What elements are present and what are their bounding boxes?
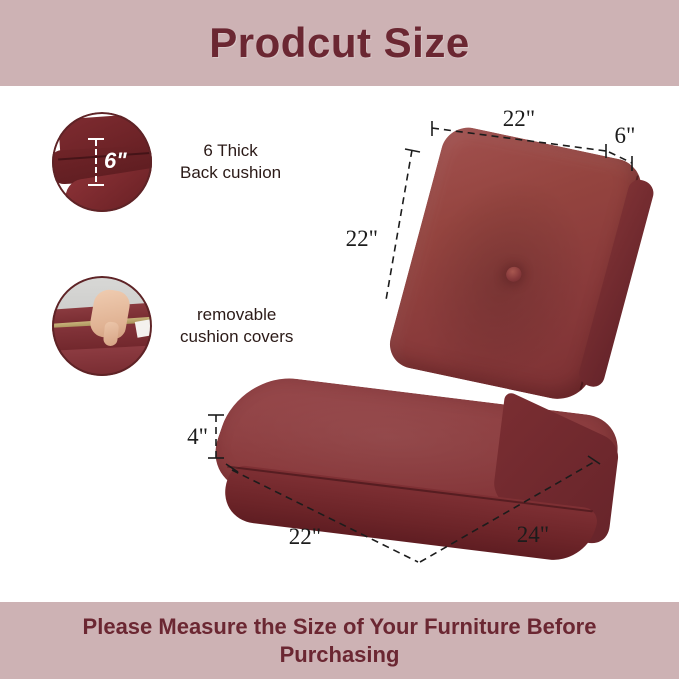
- tuft-button: [505, 265, 524, 283]
- six-inch-badge-label: 6": [104, 150, 127, 172]
- feature-2-label: removable cushion covers: [180, 304, 293, 349]
- feature-back-cushion-thickness: 6" 6 Thick Back cushion: [52, 112, 281, 212]
- footer-banner: Please Measure the Size of Your Furnitur…: [0, 602, 679, 679]
- feature-removable-covers: removable cushion covers: [52, 276, 293, 376]
- back-cushion-graphic: [384, 123, 648, 405]
- feature-1-label: 6 Thick Back cushion: [180, 140, 281, 185]
- header-banner: Prodcut Size: [0, 0, 679, 86]
- footer-message: Please Measure the Size of Your Furnitur…: [30, 613, 650, 668]
- page-title: Prodcut Size: [209, 22, 469, 64]
- removable-cover-icon: [52, 276, 152, 376]
- product-size-infographic: Prodcut Size 22" 6" 22": [0, 0, 679, 679]
- six-inch-measure-marker: [95, 136, 97, 186]
- back-cushion-thickness-icon: 6": [52, 112, 152, 212]
- back-cushion-welt: [579, 175, 638, 390]
